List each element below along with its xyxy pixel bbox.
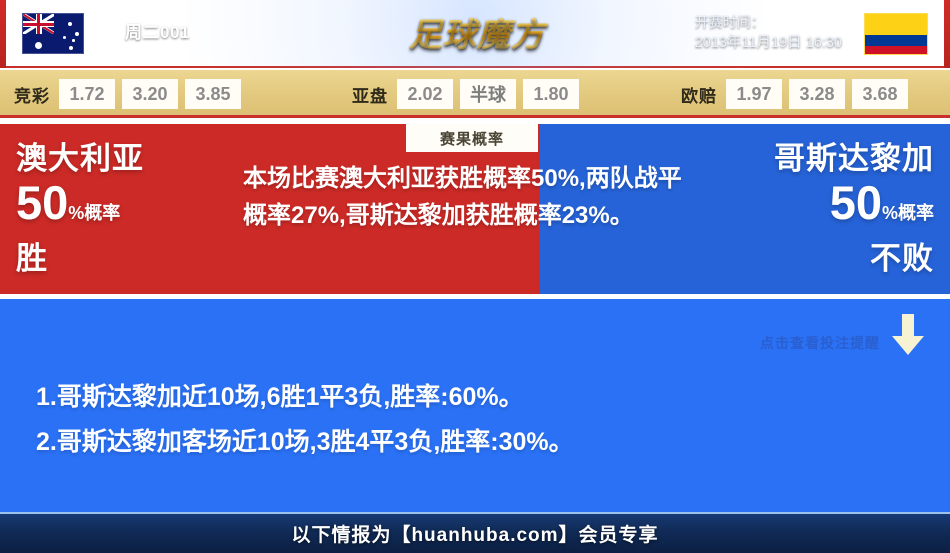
odds-group-label: 亚盘 (352, 82, 390, 107)
away-probability-number: 50 (830, 176, 882, 229)
kickoff-time: 开赛时间： 2013年11月19日 16:30 (695, 12, 842, 54)
match-number: 周二001 (125, 18, 190, 43)
header-right-accent (944, 0, 950, 68)
odds-cell[interactable]: 3.85 (185, 79, 241, 109)
probability-summary-text: 本场比赛澳大利亚获胜概率50%,两队战平概率27%,哥斯达黎加获胜概率23%。 (243, 160, 698, 234)
away-team-name: 哥斯达黎加 (774, 140, 934, 178)
odds-group-label: 竞彩 (14, 82, 52, 107)
kickoff-value: 2013年11月19日 16:30 (695, 33, 842, 54)
odds-cell[interactable]: 1.80 (523, 79, 579, 109)
home-team-name: 澳大利亚 (16, 140, 144, 178)
match-preview-card: 周二001 足球魔方 开赛时间： 2013年11月19日 16:30 竞彩 1.… (0, 0, 950, 553)
odds-group-oupei: 欧赔 1.97 3.28 3.68 (681, 79, 908, 109)
odds-cell[interactable]: 3.20 (122, 79, 178, 109)
home-team-block: 澳大利亚 50%概率 胜 (16, 140, 144, 278)
probability-tab-badge: 赛果概率 (406, 124, 538, 152)
site-logo[interactable]: 足球魔方 (392, 0, 562, 68)
home-outcome-label: 胜 (16, 240, 144, 278)
list-item: 2.哥斯达黎加客场近10场,3胜4平3负,胜率:30%。 (36, 420, 916, 465)
odds-cell[interactable]: 3.28 (789, 79, 845, 109)
header-left-accent (0, 0, 6, 68)
footer-bar: 以下情报为【huanhuba.com】会员专享 (0, 512, 950, 553)
home-probability-value: 50%概率 (16, 178, 144, 240)
odds-cell[interactable]: 1.72 (59, 79, 115, 109)
away-probability-value: 50%概率 (774, 178, 934, 240)
colombia-flag-icon (864, 13, 928, 55)
site-logo-text: 足球魔方 (392, 8, 562, 56)
view-betting-reminder-link[interactable]: 点击查看投注提醒 (760, 333, 880, 353)
away-team-block: 哥斯达黎加 50%概率 不败 (774, 140, 934, 278)
kickoff-label: 开赛时间： (695, 12, 842, 33)
odds-cell[interactable]: 1.97 (726, 79, 782, 109)
away-outcome-label: 不败 (774, 240, 934, 278)
away-probability-unit: %概率 (882, 203, 934, 223)
odds-bar: 竞彩 1.72 3.20 3.85 亚盘 2.02 半球 1.80 欧赔 1.9… (0, 70, 950, 118)
list-item: 1.哥斯达黎加近10场,6胜1平3负,胜率:60%。 (36, 375, 916, 420)
home-probability-unit: %概率 (68, 203, 120, 223)
odds-cell[interactable]: 3.68 (852, 79, 908, 109)
probability-section: 赛果概率 澳大利亚 50%概率 胜 本场比赛澳大利亚获胜概率50%,两队战平概率… (0, 124, 950, 294)
down-arrow-icon[interactable] (891, 314, 925, 356)
betting-tips-list: 1.哥斯达黎加近10场,6胜1平3负,胜率:60%。 2.哥斯达黎加客场近10场… (36, 375, 916, 465)
odds-group-yapan: 亚盘 2.02 半球 1.80 (352, 79, 579, 109)
odds-cell-handicap[interactable]: 半球 (460, 79, 516, 109)
home-probability-number: 50 (16, 176, 68, 229)
odds-group-jingcai: 竞彩 1.72 3.20 3.85 (14, 79, 241, 109)
footer-notice: 以下情报为【huanhuba.com】会员专享 (291, 520, 658, 547)
odds-cell[interactable]: 2.02 (397, 79, 453, 109)
odds-group-label: 欧赔 (681, 82, 719, 107)
header-bar: 周二001 足球魔方 开赛时间： 2013年11月19日 16:30 (0, 0, 950, 68)
australia-flag-icon (22, 13, 84, 54)
